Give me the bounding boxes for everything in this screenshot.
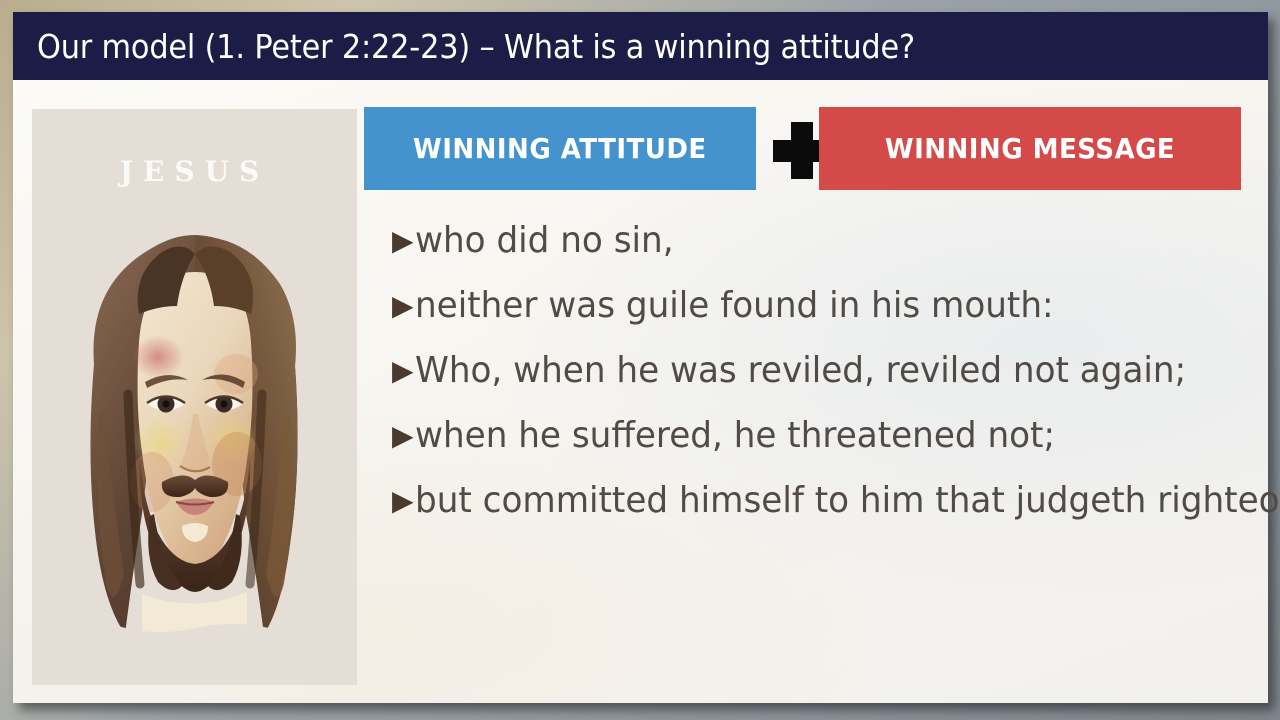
list-item-text: who did no sin, bbox=[415, 220, 674, 261]
slide-title-bar: Our model (1. Peter 2:22-23) – What is a… bbox=[13, 12, 1268, 80]
slide-card: Our model (1. Peter 2:22-23) – What is a… bbox=[13, 12, 1268, 703]
winning-attitude-box[interactable]: WINNING ATTITUDE bbox=[364, 107, 756, 190]
list-item-text: neither was guile found in his mouth: bbox=[415, 285, 1054, 326]
scripture-bullet-list: ▶ who did no sin, ▶ neither was guile fo… bbox=[392, 220, 1252, 545]
page-title: Our model (1. Peter 2:22-23) – What is a… bbox=[37, 27, 915, 66]
list-item-text: when he suffered, he threatened not; bbox=[415, 415, 1055, 456]
triangle-bullet-icon: ▶ bbox=[392, 422, 414, 450]
list-item: ▶ neither was guile found in his mouth: bbox=[392, 285, 1252, 350]
triangle-bullet-icon: ▶ bbox=[392, 227, 414, 255]
triangle-bullet-icon: ▶ bbox=[392, 487, 414, 515]
triangle-bullet-icon: ▶ bbox=[392, 292, 414, 320]
jesus-image-panel: JESUS bbox=[32, 109, 357, 685]
jesus-caption: JESUS bbox=[32, 144, 357, 191]
plus-icon-vertical-bar bbox=[791, 122, 813, 179]
list-item: ▶ Who, when he was reviled, reviled not … bbox=[392, 350, 1252, 415]
jesus-portrait-illustration bbox=[32, 214, 357, 664]
list-item-text: but committed himself to him that judget… bbox=[415, 480, 1280, 521]
winning-message-box[interactable]: WINNING MESSAGE bbox=[819, 107, 1241, 190]
list-item: ▶ but committed himself to him that judg… bbox=[392, 480, 1252, 545]
list-item-text: Who, when he was reviled, reviled not ag… bbox=[415, 350, 1186, 391]
slide-stage: Our model (1. Peter 2:22-23) – What is a… bbox=[0, 0, 1280, 720]
list-item: ▶ when he suffered, he threatened not; bbox=[392, 415, 1252, 480]
triangle-bullet-icon: ▶ bbox=[392, 357, 414, 385]
winning-message-label: WINNING MESSAGE bbox=[885, 132, 1175, 165]
slide-body: JESUS bbox=[13, 80, 1268, 703]
winning-attitude-label: WINNING ATTITUDE bbox=[413, 132, 707, 165]
list-item: ▶ who did no sin, bbox=[392, 220, 1252, 285]
